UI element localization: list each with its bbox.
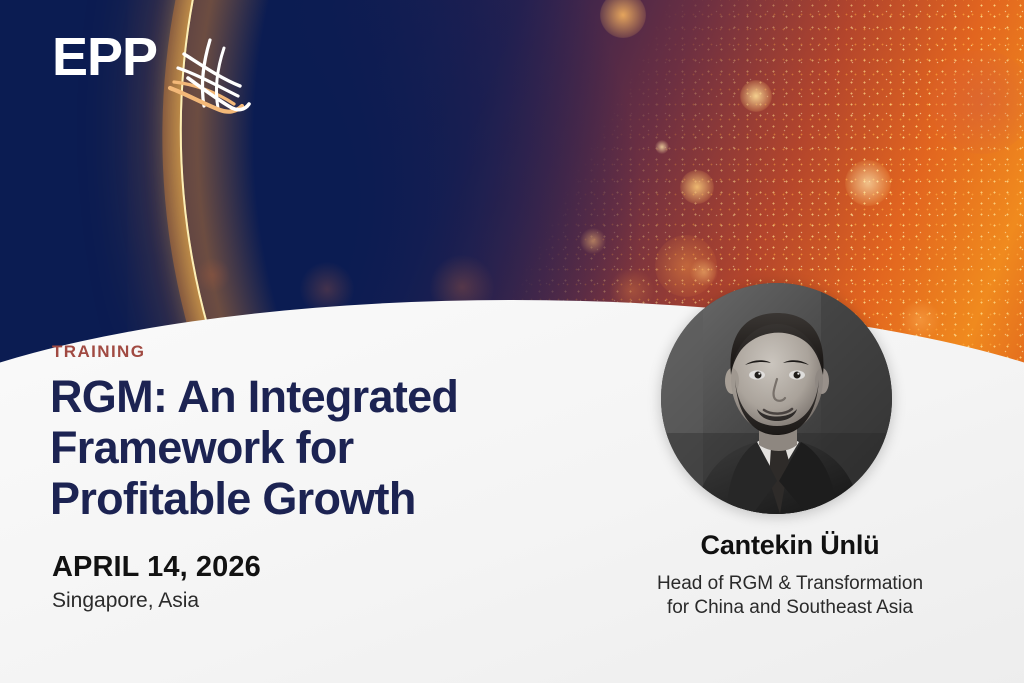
speaker-role: Head of RGM & Transformation for China a… — [590, 572, 990, 620]
event-promo-banner: EPP TRAINING RGM: An Integrated Framewor… — [0, 0, 1024, 683]
event-category-label: TRAINING — [52, 342, 145, 362]
epp-logo-text: EPP — [52, 30, 157, 84]
speaker-avatar — [661, 283, 892, 514]
page-title-line-1: RGM: An Integrated — [50, 371, 458, 422]
event-date: APRIL 14, 2026 — [52, 551, 261, 584]
epp-logo[interactable]: EPP — [52, 30, 252, 122]
page-title: RGM: An Integrated Framework for Profita… — [50, 372, 640, 525]
page-title-line-3: Profitable Growth — [50, 473, 416, 524]
speaker-name: Cantekin Ünlü — [600, 530, 980, 561]
speaker-role-line-2: for China and Southeast Asia — [590, 596, 990, 620]
event-location: Singapore, Asia — [52, 589, 199, 613]
page-title-line-2: Framework for — [50, 422, 353, 473]
bird-swoosh-icon — [148, 34, 258, 120]
speaker-role-line-1: Head of RGM & Transformation — [590, 572, 990, 596]
